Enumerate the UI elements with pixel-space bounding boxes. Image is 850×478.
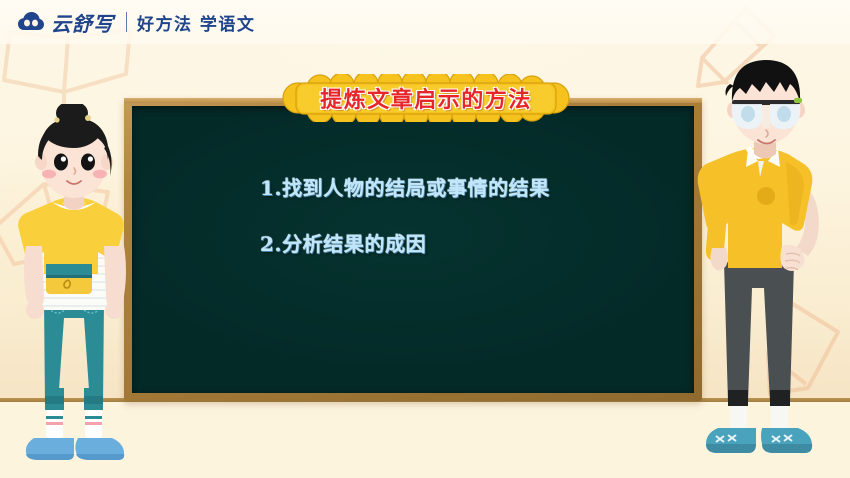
brand-header: 云舒写 好方法 学语文 [0, 0, 850, 44]
board-line-2: 2.分析结果的成因 [260, 228, 426, 257]
slide-canvas: 云舒写 好方法 学语文 1.找到人物的结局或事情的结果 2.分析结果的成因 [0, 0, 850, 478]
slide-title: 提炼文章启示的方法 [276, 74, 576, 122]
board-line-1: 1.找到人物的结局或事情的结果 [260, 172, 550, 201]
boy-student [690, 50, 842, 478]
girl-student [4, 104, 144, 478]
blackboard-text-group: 1.找到人物的结局或事情的结果 2.分析结果的成因 [132, 106, 694, 393]
blackboard: 1.找到人物的结局或事情的结果 2.分析结果的成因 [124, 98, 702, 401]
cloud-logo-icon [18, 12, 44, 32]
header-divider [126, 12, 127, 32]
brand-tagline: 好方法 学语文 [137, 10, 255, 35]
blackboard-surface: 1.找到人物的结局或事情的结果 2.分析结果的成因 [132, 106, 694, 393]
brand-name: 云舒写 [51, 8, 114, 37]
title-banner: 提炼文章启示的方法 [276, 74, 576, 122]
